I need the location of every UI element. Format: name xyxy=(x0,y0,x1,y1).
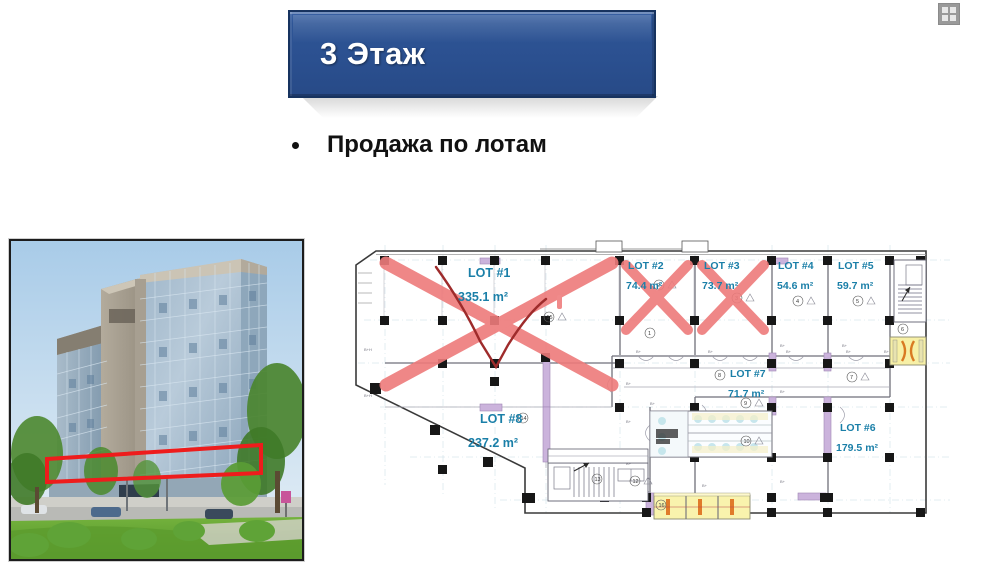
svg-text:B+: B+ xyxy=(786,349,792,354)
floor-plan: 152 34 56 78 910 1312 141 16 xyxy=(350,225,960,535)
lot8-name: LOT #8 xyxy=(480,412,522,426)
page-title: 3 Этаж xyxy=(320,36,425,72)
lot1-area: 335.1 m² xyxy=(458,290,508,304)
svg-text:8: 8 xyxy=(718,373,721,379)
lot4-name: LOT #4 xyxy=(778,260,814,272)
svg-text:13: 13 xyxy=(595,477,601,483)
lot6-area: 179.5 m² xyxy=(836,442,879,454)
lot6-name: LOT #6 xyxy=(840,422,876,434)
lot8-area: 237.2 m² xyxy=(468,436,518,450)
expand-icon-square-br xyxy=(950,15,956,21)
svg-text:6: 6 xyxy=(901,327,904,333)
expand-icon-square-tr xyxy=(950,7,956,13)
svg-text:B+H: B+H xyxy=(364,393,372,398)
svg-text:4: 4 xyxy=(796,299,799,305)
svg-text:B+: B+ xyxy=(626,419,632,424)
svg-text:5: 5 xyxy=(856,299,859,305)
title-banner: 3 Этаж xyxy=(288,10,656,98)
svg-text:B+: B+ xyxy=(626,461,632,466)
svg-text:15: 15 xyxy=(547,315,553,321)
lot2-name: LOT #2 xyxy=(628,260,664,272)
expand-icon-square-bl xyxy=(942,15,948,21)
svg-text:12: 12 xyxy=(633,479,639,485)
lot7-name: LOT #7 xyxy=(730,368,766,380)
expand-icon[interactable] xyxy=(938,3,960,25)
lot3-name: LOT #3 xyxy=(704,260,740,272)
svg-text:10: 10 xyxy=(744,439,750,445)
lot5-name: LOT #5 xyxy=(838,260,874,272)
svg-text:7: 7 xyxy=(850,375,853,381)
svg-text:B+: B+ xyxy=(846,349,852,354)
lot4-area: 54.6 m² xyxy=(777,280,814,292)
svg-text:B+: B+ xyxy=(884,349,890,354)
svg-text:9: 9 xyxy=(744,401,747,407)
svg-text:B+: B+ xyxy=(636,349,642,354)
building-photo xyxy=(8,238,305,562)
bullet-dot-icon xyxy=(292,142,299,149)
svg-text:B+: B+ xyxy=(702,483,708,488)
slide-root: 3 Этаж Продажа по лотам xyxy=(0,0,1000,563)
bullet-text: Продажа по лотам xyxy=(327,131,547,159)
expand-icon-square-tl xyxy=(942,7,948,13)
lot1-name: LOT #1 xyxy=(468,266,510,280)
title-banner-shadow xyxy=(286,96,658,118)
svg-text:B+: B+ xyxy=(780,343,786,348)
lot2-area: 74.4 m² xyxy=(626,280,663,292)
bullet-row: Продажа по лотам xyxy=(292,131,547,159)
svg-text:B+: B+ xyxy=(780,479,786,484)
lot3-area: 73.7 m² xyxy=(702,280,739,292)
svg-text:B+: B+ xyxy=(708,349,714,354)
lot5-area: 59.7 m² xyxy=(837,280,874,292)
svg-text:B+: B+ xyxy=(626,381,632,386)
svg-text:1: 1 xyxy=(648,331,651,337)
svg-text:B+: B+ xyxy=(842,343,848,348)
svg-text:B+: B+ xyxy=(780,389,786,394)
svg-text:B+H: B+H xyxy=(364,347,372,352)
svg-text:16: 16 xyxy=(659,503,665,509)
lot7-area: 71.7 m² xyxy=(728,388,765,400)
svg-text:B+: B+ xyxy=(650,401,656,406)
